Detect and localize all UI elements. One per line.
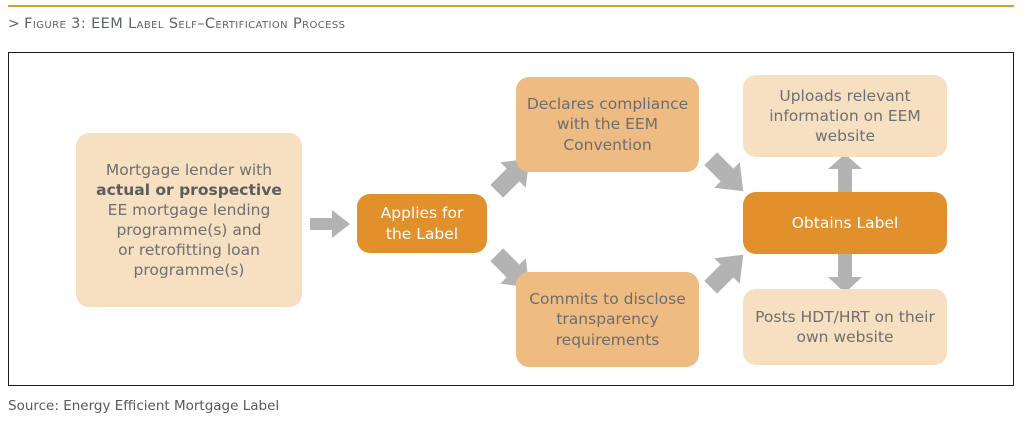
node-commits-line1: Commits to disclose bbox=[524, 289, 691, 309]
top-gold-rule bbox=[8, 5, 1014, 7]
node-applies-line2: the Label bbox=[365, 224, 479, 244]
node-lender-line4: programme(s) and bbox=[84, 220, 294, 240]
node-commits-transparency[interactable]: Commits to disclose transparency require… bbox=[516, 272, 699, 367]
node-posts-line2: own website bbox=[751, 327, 939, 347]
node-uploads-line1: Uploads relevant bbox=[751, 86, 939, 106]
node-posts-hdt-hrt[interactable]: Posts HDT/HRT on their own website bbox=[743, 289, 947, 365]
arrow-commits-to-obtains bbox=[701, 241, 753, 301]
node-declares-line1: Declares compliance bbox=[524, 94, 691, 114]
arrow-obtains-to-uploads bbox=[827, 153, 863, 197]
node-obtains-line1: Obtains Label bbox=[751, 213, 939, 233]
arrow-lender-to-applies bbox=[310, 208, 352, 240]
node-applies-for-label[interactable]: Applies for the Label bbox=[357, 194, 487, 253]
node-uploads-information[interactable]: Uploads relevant information on EEM webs… bbox=[743, 75, 947, 157]
node-lender-line2-bold: actual or prospective bbox=[84, 180, 294, 200]
node-mortgage-lender[interactable]: Mortgage lender with actual or prospecti… bbox=[76, 133, 302, 307]
node-lender-line5: or retrofitting loan bbox=[84, 240, 294, 260]
chevron-right-icon: > bbox=[8, 16, 20, 32]
node-declares-line3: Convention bbox=[524, 135, 691, 155]
source-caption: Source: Energy Efficient Mortgage Label bbox=[8, 398, 279, 414]
diagram-frame: Mortgage lender with actual or prospecti… bbox=[8, 52, 1014, 386]
node-declares-line2: with the EEM bbox=[524, 114, 691, 134]
node-applies-line1: Applies for bbox=[365, 203, 479, 223]
node-declares-compliance[interactable]: Declares compliance with the EEM Convent… bbox=[516, 77, 699, 172]
node-posts-line1: Posts HDT/HRT on their bbox=[751, 307, 939, 327]
node-lender-line6: programme(s) bbox=[84, 260, 294, 280]
node-lender-line1: Mortgage lender with bbox=[84, 160, 294, 180]
arrow-obtains-to-posts bbox=[827, 252, 863, 294]
node-commits-line2: transparency bbox=[524, 309, 691, 329]
figure-page: >Figure 3: EEM Label Self–Certification … bbox=[0, 0, 1028, 432]
node-uploads-line3: website bbox=[751, 126, 939, 146]
node-lender-line3: EE mortgage lending bbox=[84, 200, 294, 220]
diagram-canvas: Mortgage lender with actual or prospecti… bbox=[9, 53, 1013, 385]
node-obtains-label[interactable]: Obtains Label bbox=[743, 192, 947, 254]
node-uploads-line2: information on EEM bbox=[751, 106, 939, 126]
figure-title-text: Figure 3: EEM Label Self–Certification P… bbox=[24, 16, 345, 32]
node-commits-line3: requirements bbox=[524, 330, 691, 350]
figure-title: >Figure 3: EEM Label Self–Certification … bbox=[8, 16, 345, 32]
